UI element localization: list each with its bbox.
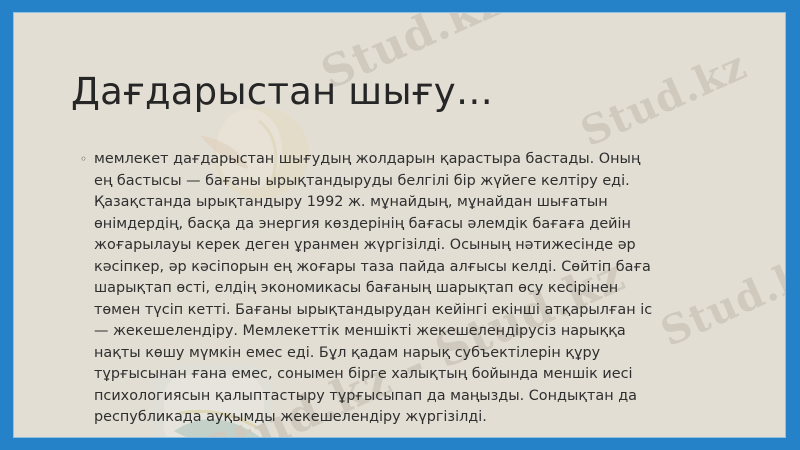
slide-title: Дағдарыстан шығу… xyxy=(71,70,761,114)
watermark-right: Stud.kz xyxy=(654,242,785,356)
slide-body-bullet-item: ◦ мемлекет дағдарыстан шығудың жолдарын … xyxy=(80,149,660,429)
slide-content-area: Stud.kz - Stud.kz Stud.kz Stud.kz Stud.k… xyxy=(14,13,785,437)
slide-body-text: мемлекет дағдарыстан шығудың жолдарын қа… xyxy=(94,149,660,429)
bullet-marker-icon: ◦ xyxy=(80,149,94,171)
presentation-slide: Stud.kz - Stud.kz Stud.kz Stud.kz Stud.k… xyxy=(0,0,800,450)
